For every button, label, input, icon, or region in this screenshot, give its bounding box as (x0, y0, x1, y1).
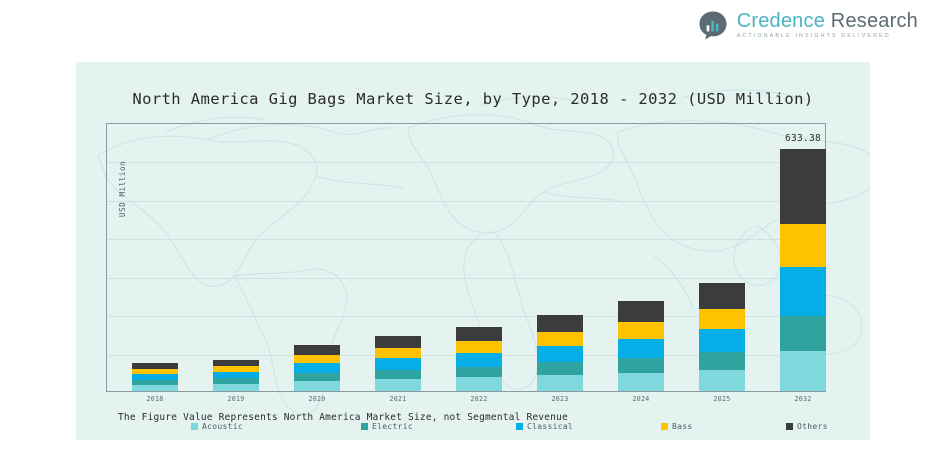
legend-item-classical[interactable]: Classical (516, 422, 573, 431)
bar-segment[interactable] (294, 363, 340, 373)
brand-text: Credence Research Actionable Insights De… (737, 11, 918, 39)
chart-footnote: The Figure Value Represents North Americ… (118, 412, 568, 423)
bar-segment[interactable] (375, 370, 421, 379)
bar-segment[interactable] (294, 355, 340, 363)
x-axis-tick: 2032 (780, 395, 826, 403)
bar-segment[interactable] (699, 309, 745, 329)
bar-segment[interactable] (618, 322, 664, 339)
legend-item-acoustic[interactable]: Acoustic (191, 422, 243, 431)
bar-value-label: 633.38 (785, 133, 821, 144)
bar-segment[interactable] (537, 332, 583, 346)
bar-segment[interactable] (456, 353, 502, 366)
bar-segment[interactable] (780, 149, 826, 225)
bar-segment[interactable] (294, 381, 340, 391)
bar-column[interactable] (537, 315, 583, 391)
legend-swatch-icon (516, 423, 523, 430)
legend-swatch-icon (191, 423, 198, 430)
bars-container: 633.38 (132, 123, 826, 391)
bar-chart-bubble-icon (698, 10, 728, 40)
legend-label: Acoustic (202, 422, 243, 431)
bar-segment[interactable] (699, 352, 745, 370)
legend-label: Others (797, 422, 828, 431)
bar-segment[interactable] (537, 375, 583, 391)
chart-figure: North America Gig Bags Market Size, by T… (76, 62, 870, 440)
x-axis: 201820192020202120222023202420252032 (132, 395, 826, 409)
brand-logo: Credence Research Actionable Insights De… (698, 10, 918, 40)
y-axis-label: USD Million (118, 161, 127, 217)
bar-segment[interactable] (780, 267, 826, 316)
bar-segment[interactable] (456, 377, 502, 391)
x-axis-tick: 2018 (132, 395, 178, 403)
chart-title: North America Gig Bags Market Size, by T… (76, 90, 870, 108)
bar-segment[interactable] (699, 370, 745, 391)
bar-column[interactable] (294, 345, 340, 391)
legend-label: Classical (527, 422, 573, 431)
bar-segment[interactable] (699, 283, 745, 308)
bar-segment[interactable] (294, 345, 340, 355)
bar-segment[interactable] (375, 358, 421, 369)
bar-column[interactable]: 633.38 (780, 149, 826, 391)
x-axis-tick: 2025 (699, 395, 745, 403)
brand-name: Credence Research (737, 11, 918, 31)
legend-swatch-icon (361, 423, 368, 430)
bar-segment[interactable] (375, 379, 421, 391)
bar-segment[interactable] (375, 336, 421, 348)
bar-segment[interactable] (456, 367, 502, 378)
bar-segment[interactable] (618, 373, 664, 391)
legend-label: Bass (672, 422, 692, 431)
brand-name-primary: Credence (737, 10, 825, 32)
brand-tagline: Actionable Insights Delivered (737, 34, 918, 39)
legend-label: Electric (372, 422, 413, 431)
bar-segment[interactable] (780, 224, 826, 267)
bar-column[interactable] (132, 363, 178, 391)
chart-legend: AcousticElectricClassicalBassOthers (136, 422, 836, 438)
bar-segment[interactable] (456, 341, 502, 353)
bar-segment[interactable] (537, 346, 583, 362)
x-axis-tick: 2020 (294, 395, 340, 403)
x-axis-tick: 2023 (537, 395, 583, 403)
bar-segment[interactable] (537, 362, 583, 375)
bar-column[interactable] (213, 360, 259, 391)
x-axis-tick: 2019 (213, 395, 259, 403)
bar-segment[interactable] (537, 315, 583, 332)
bar-column[interactable] (699, 283, 745, 391)
legend-swatch-icon (786, 423, 793, 430)
bar-segment[interactable] (780, 351, 826, 391)
bar-segment[interactable] (294, 373, 340, 381)
bar-column[interactable] (456, 327, 502, 391)
bar-segment[interactable] (375, 348, 421, 358)
legend-swatch-icon (661, 423, 668, 430)
bar-segment[interactable] (618, 301, 664, 322)
bar-segment[interactable] (132, 385, 178, 392)
x-axis-tick: 2024 (618, 395, 664, 403)
legend-item-others[interactable]: Others (786, 422, 828, 431)
bar-column[interactable] (375, 336, 421, 391)
brand-name-secondary: Research (831, 10, 918, 32)
bar-segment[interactable] (618, 339, 664, 358)
bar-segment[interactable] (213, 384, 259, 391)
bar-segment[interactable] (618, 358, 664, 373)
bar-segment[interactable] (780, 316, 826, 351)
bar-column[interactable] (618, 301, 664, 391)
bar-segment[interactable] (456, 327, 502, 341)
legend-item-bass[interactable]: Bass (661, 422, 692, 431)
bar-segment[interactable] (699, 329, 745, 352)
x-axis-tick: 2021 (375, 395, 421, 403)
legend-item-electric[interactable]: Electric (361, 422, 413, 431)
x-axis-tick: 2022 (456, 395, 502, 403)
